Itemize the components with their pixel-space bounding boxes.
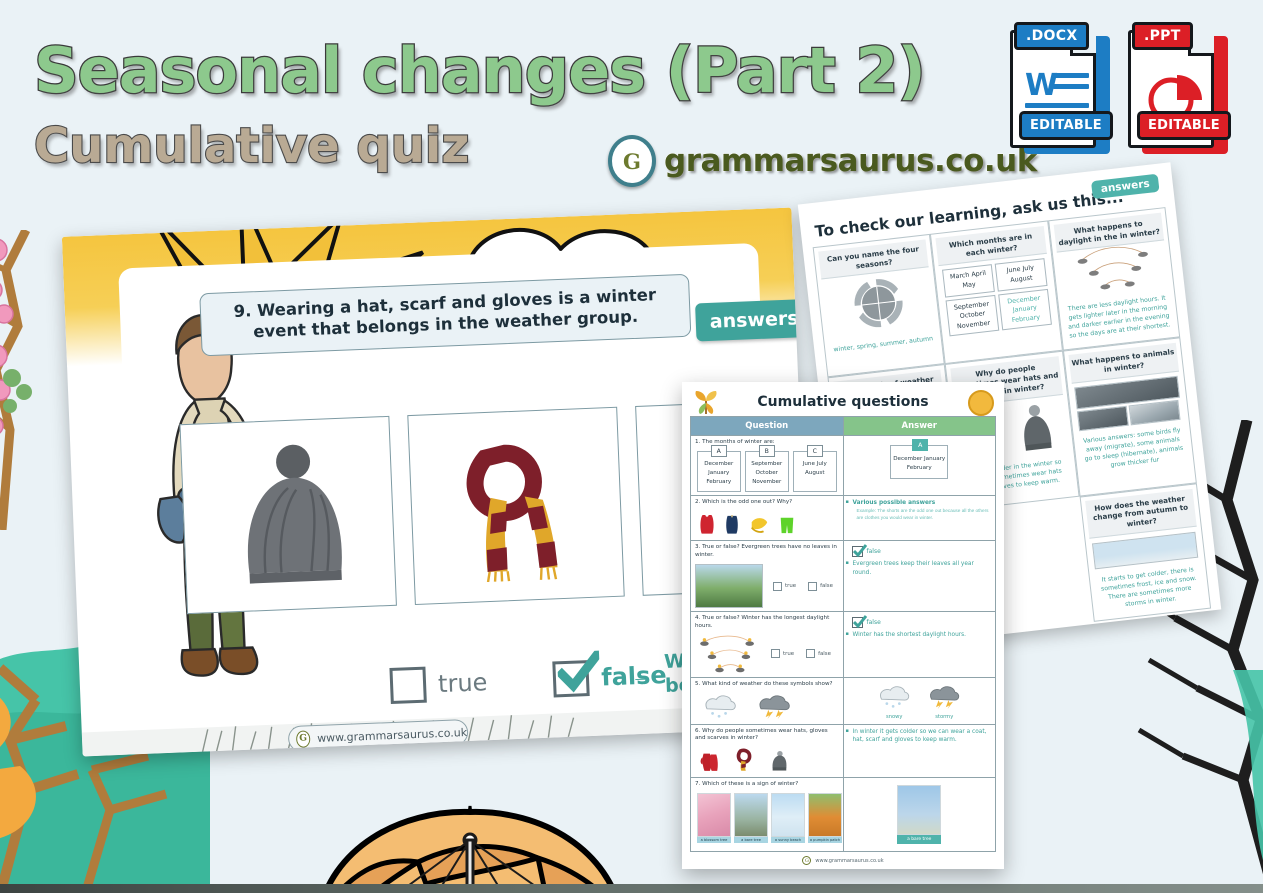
option-b[interactable]: B September October November xyxy=(745,451,789,492)
option-months-a: December January February xyxy=(700,460,738,487)
true-checkbox[interactable] xyxy=(389,666,426,703)
answer-bullet-2: Various possible answers xyxy=(848,499,992,508)
option-letter-c: C xyxy=(807,445,823,457)
answer-symbol-snowy: snowy xyxy=(876,684,912,720)
front-sheet-title: Cumulative questions xyxy=(757,394,928,410)
animal-photo-2 xyxy=(1077,406,1129,432)
sign-of-winter-options: a blossom tree a bare tree a sunny beach xyxy=(695,789,839,845)
sign-option-blossom[interactable]: a blossom tree xyxy=(697,793,731,843)
ppt-badge[interactable]: .PPT EDITABLE xyxy=(1128,22,1228,154)
brand-logo: G grammarsaurus.co.uk xyxy=(608,135,1037,187)
question-cell-6: 6. Why do people sometimes wear hats, gl… xyxy=(691,724,844,778)
daylight-hours-diagram xyxy=(695,634,761,674)
question-cell-1: 1. The months of winter are: A December … xyxy=(691,436,844,496)
answer-cell-2: Various possible answers Example: The sh… xyxy=(843,495,996,541)
table-row: 1. The months of winter are: A December … xyxy=(691,436,996,496)
question-cell-7: 7. Which of these is a sign of winter? a… xyxy=(691,778,844,852)
bottom-shadow-bar xyxy=(0,884,1263,893)
true-option[interactable]: true xyxy=(389,664,488,704)
pumpkin-patch-photo xyxy=(808,793,842,837)
false-label-4: false xyxy=(818,651,831,657)
green-shorts-icon xyxy=(778,515,796,535)
option-months-b: September October November xyxy=(748,460,786,487)
question-text-4: 4. True or false? Winter has the longest… xyxy=(695,615,839,631)
striped-scarf-icon xyxy=(735,748,753,772)
sign-label-blossom: a blossom tree xyxy=(697,837,731,843)
question-cell-2: 2. Which is the odd one out? Why? xyxy=(691,495,844,541)
answer-choice-4: false xyxy=(848,615,992,631)
answer-cell-7: a bare tree xyxy=(843,778,996,852)
slide-url-text: www.grammarsaurus.co.uk xyxy=(317,726,467,745)
row-question-3: True or false? Evergreen trees have no l… xyxy=(695,544,837,558)
hat-photo xyxy=(1013,401,1056,455)
option-letter-b: B xyxy=(759,445,775,457)
weather-symbols-5 xyxy=(695,689,839,721)
true-checkbox-3[interactable] xyxy=(773,582,782,591)
answer-choice-3: false xyxy=(848,544,992,560)
umbrella-illustration xyxy=(310,800,630,893)
false-checkbox-4[interactable] xyxy=(806,649,815,658)
table-row: 3. True or false? Evergreen trees have n… xyxy=(691,541,996,612)
answer-sign-card-7: a bare tree xyxy=(897,785,941,844)
answer-bullet-6: In winter it gets colder so we can wear … xyxy=(848,728,992,745)
month-group-spring: March April May xyxy=(942,265,994,298)
arrow-icon: → xyxy=(630,662,653,689)
back-answer-2: There are less daylight hours. It gets l… xyxy=(1062,292,1174,346)
option-row-1: A December January February B September … xyxy=(695,447,839,492)
checked-box-3 xyxy=(852,546,863,557)
checkmark-icon xyxy=(853,615,867,629)
sign-label-pumpkin: a pumpkin patch xyxy=(808,837,842,843)
back-cell-months: Which months are in each winter? March A… xyxy=(930,220,1062,364)
snow-cloud-icon xyxy=(701,693,739,719)
word-text-lines-top xyxy=(1053,73,1089,95)
evergreen-trees-photo xyxy=(695,564,763,608)
bare-tree-photo xyxy=(734,793,768,837)
seasons-cycle-diagram xyxy=(821,268,935,340)
row-number-6: 6. xyxy=(695,728,700,734)
row-question-4: True or false? Winter has the longest da… xyxy=(695,615,829,629)
true-checkbox-4[interactable] xyxy=(771,649,780,658)
false-checkbox-3[interactable] xyxy=(808,582,817,591)
back-question-6: How does the weather change from autumn … xyxy=(1085,489,1197,539)
sunny-beach-photo xyxy=(771,793,805,837)
back-cell-daylight: What happens to daylight in the in winte… xyxy=(1048,207,1180,351)
true-label-3: true xyxy=(785,583,796,589)
table-row: 4. True or false? Winter has the longest… xyxy=(691,612,996,678)
row-number-4: 4. xyxy=(695,615,700,621)
winter-clothes-6 xyxy=(695,743,839,774)
brand-text: grammarsaurus.co.uk xyxy=(664,143,1037,179)
true-false-mini-4[interactable]: true false xyxy=(771,649,831,658)
hat-image xyxy=(179,416,396,614)
question-answer-table: Question Answer 1. The months of winter … xyxy=(690,416,996,852)
front-sheet-footer: G www.grammarsaurus.co.uk xyxy=(690,852,996,865)
row-number-1: 1. xyxy=(695,439,700,445)
answer-card-1: A December January February xyxy=(890,445,948,479)
true-label-4: true xyxy=(783,651,794,657)
back-answer-6: It starts to get colder, there is someti… xyxy=(1093,562,1205,616)
docx-editable-label: EDITABLE xyxy=(1019,111,1113,140)
navy-gilet-icon xyxy=(724,511,740,535)
answer-symbol-stormy: stormy xyxy=(926,684,962,720)
answer-sign-label-7: a bare tree xyxy=(897,835,941,844)
false-label-3: false xyxy=(820,583,833,589)
false-checkbox[interactable] xyxy=(553,660,590,697)
answer-cell-1: A December January February xyxy=(843,436,996,496)
migrating-birds-photo xyxy=(1128,400,1180,426)
answer-months-1: December January February xyxy=(893,455,945,473)
answer-label-3: false xyxy=(867,548,881,555)
column-header-question: Question xyxy=(691,417,844,436)
month-group-summer: June July August xyxy=(995,259,1047,292)
grammarsaurus-mark-small: G xyxy=(296,730,311,748)
front-url-text: www.grammarsaurus.co.uk xyxy=(815,858,883,864)
true-label: true xyxy=(438,668,488,698)
table-row: 2. Which is the odd one out? Why? xyxy=(691,495,996,541)
table-header-row: Question Answer xyxy=(691,417,996,436)
ppt-extension-label: .PPT xyxy=(1132,22,1193,50)
true-false-mini-3[interactable]: true false xyxy=(773,582,833,591)
answer-bullet-3: Evergreen trees keep their leaves all ye… xyxy=(848,560,992,577)
answer-cell-6: In winter it gets colder so we can wear … xyxy=(843,724,996,778)
months-grid: March April May June July August Septemb… xyxy=(939,254,1055,341)
question-text-6: 6. Why do people sometimes wear hats, gl… xyxy=(695,728,839,744)
month-group-winter: December January February xyxy=(998,289,1052,331)
docx-extension-label: .DOCX xyxy=(1014,22,1089,50)
question-cell-4: 4. True or false? Winter has the longest… xyxy=(691,612,844,678)
answer-note-2: Example: The shorts are the odd one out … xyxy=(848,507,992,521)
storm-cloud-icon xyxy=(926,684,962,709)
answer-letter-1: A xyxy=(912,439,928,451)
row-number-3: 3. xyxy=(695,544,700,550)
row-number-5: 5. xyxy=(695,681,700,687)
sign-label-bare: a bare tree xyxy=(734,837,768,843)
checked-box-4 xyxy=(852,617,863,628)
row-question-6: Why do people sometimes wear hats, glove… xyxy=(695,728,828,742)
sign-option-pumpkin[interactable]: a pumpkin patch xyxy=(808,793,842,843)
row-question-7: Which of these is a sign of winter? xyxy=(702,781,798,787)
table-row: 7. Which of these is a sign of winter? a… xyxy=(691,778,996,852)
sun-icon xyxy=(968,390,994,416)
yellow-raincoat-icon xyxy=(749,513,769,535)
bare-tree-photo-answer xyxy=(897,785,941,835)
blossom-tree-photo xyxy=(697,793,731,837)
ppt-editable-label: EDITABLE xyxy=(1137,111,1231,140)
answers-button[interactable]: answers xyxy=(695,299,812,342)
grey-hat-icon xyxy=(769,750,789,772)
brand-letter: G xyxy=(623,149,641,174)
sign-option-beach[interactable]: a sunny beach xyxy=(771,793,805,843)
back-cell-seasons: Can you name the four seasons? winter, s… xyxy=(813,234,945,378)
back-cell-autumn-to-winter: How does the weather change from autumn … xyxy=(1079,483,1211,622)
resource-preview: Seasonal changes (Part 2) Cumulative qui… xyxy=(0,0,1263,893)
cumulative-questions-worksheet[interactable]: Cumulative questions Question Answer 1. … xyxy=(682,382,1004,869)
back-cell-animals: What happens to animals in winter? Vario… xyxy=(1063,338,1197,497)
question-text-5: 5. What kind of weather do these symbols… xyxy=(695,681,839,689)
checkmark-icon xyxy=(853,544,867,558)
autumn-leaf-icon xyxy=(692,389,720,415)
red-coat-icon xyxy=(699,511,715,535)
caption-stormy: stormy xyxy=(926,714,962,720)
clothes-images-2 xyxy=(695,506,839,537)
front-sheet-header: Cumulative questions xyxy=(690,388,996,416)
answer-cell-3: false Evergreen trees keep their leaves … xyxy=(843,541,996,612)
question-cell-5: 5. What kind of weather do these symbols… xyxy=(691,677,844,724)
grammarsaurus-mark: G xyxy=(608,135,656,187)
red-mittens-icon xyxy=(699,748,719,772)
question-text-7: 7. Which of these is a sign of winter? xyxy=(695,781,839,789)
row-question-2: Which is the odd one out? Why? xyxy=(702,499,792,505)
page-subtitle: Cumulative quiz xyxy=(34,118,469,174)
page-title: Seasonal changes (Part 2) xyxy=(34,34,925,107)
table-row: 6. Why do people sometimes wear hats, gl… xyxy=(691,724,996,778)
option-letter-a: A xyxy=(711,445,727,457)
option-a[interactable]: A December January February xyxy=(697,451,741,492)
docx-badge[interactable]: W .DOCX EDITABLE xyxy=(1010,22,1110,154)
question-text-3: 3. True or false? Evergreen trees have n… xyxy=(695,544,839,560)
answer-label-4: false xyxy=(867,619,881,626)
option-c[interactable]: C June July August xyxy=(793,451,837,492)
answer-cell-5: snowy stormy xyxy=(843,677,996,724)
question-cell-3: 3. True or false? Evergreen trees have n… xyxy=(691,541,844,612)
answer-bullet-4: Winter has the shortest daylight hours. xyxy=(848,631,992,640)
table-row: 5. What kind of weather do these symbols… xyxy=(691,677,996,724)
question-text-2: 2. Which is the odd one out? Why? xyxy=(695,499,839,507)
row-number-2: 2. xyxy=(695,499,700,505)
grammarsaurus-mark-tiny: G xyxy=(802,856,811,865)
sign-label-beach: a sunny beach xyxy=(771,837,805,843)
caption-snowy: snowy xyxy=(876,714,912,720)
column-header-answer: Answer xyxy=(843,417,996,436)
answer-cell-4: false Winter has the shortest daylight h… xyxy=(843,612,996,678)
row-question-5: What kind of weather do these symbols sh… xyxy=(702,681,832,687)
scarf-image xyxy=(407,407,624,605)
sign-option-bare[interactable]: a bare tree xyxy=(734,793,768,843)
snow-cloud-icon xyxy=(876,684,912,709)
storm-cloud-icon xyxy=(755,693,793,719)
checkmark-icon xyxy=(557,650,601,694)
option-months-c: June July August xyxy=(796,460,834,478)
row-number-7: 7. xyxy=(695,781,700,787)
month-group-autumn: September October November xyxy=(946,295,1000,337)
